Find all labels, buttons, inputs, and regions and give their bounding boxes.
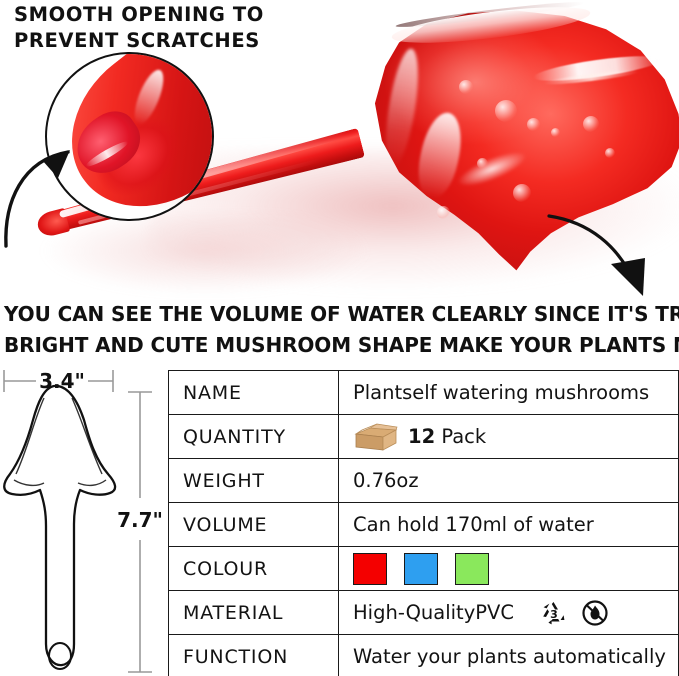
water-bubble (605, 148, 615, 158)
quantity-unit: Pack (435, 425, 486, 448)
material-text: High-QualityPVC (353, 601, 514, 624)
water-bubble (527, 118, 540, 131)
headline-line-1: SMOOTH OPENING TO (14, 2, 344, 28)
water-bubble (477, 158, 488, 169)
banner-line-1: YOU CAN SEE THE VOLUME OF WATER CLEARLY … (4, 302, 675, 326)
row-value-function: Water your plants automatically (339, 635, 679, 676)
table-row-function: FUNCTION Water your plants automatically (169, 635, 679, 676)
table-row-quantity: QUANTITY 12 Pack (169, 415, 679, 459)
recycle-pvc-icon: 3 (539, 599, 569, 627)
row-key-volume: VOLUME (169, 503, 339, 547)
water-bubble (459, 80, 473, 94)
height-dimension-label: 7.7" (117, 508, 163, 532)
row-key-colour: COLOUR (169, 547, 339, 591)
row-value-name: Plantself watering mushrooms (339, 371, 679, 415)
width-dimension-label: 3.4" (39, 369, 85, 393)
row-value-colour (339, 547, 679, 591)
headline-line-2: PREVENT SCRATCHES (14, 28, 344, 54)
row-value-weight: 0.76oz (339, 459, 679, 503)
water-bubble (583, 116, 599, 132)
water-bubble (513, 184, 531, 202)
row-value-volume: Can hold 170ml of water (339, 503, 679, 547)
table-row-volume: VOLUME Can hold 170ml of water (169, 503, 679, 547)
table-row-material: MATERIAL High-QualityPVC (169, 591, 679, 635)
water-bubble (437, 206, 450, 219)
dimension-drawing: 3.4" 7.7" (0, 362, 164, 676)
table-row-name: NAME Plantself watering mushrooms (169, 371, 679, 415)
package-box-icon (353, 422, 399, 452)
curved-arrow-right-icon (545, 212, 675, 300)
banner-line-2: BRIGHT AND CUTE MUSHROOM SHAPE MAKE YOUR… (4, 333, 675, 357)
colour-swatch-green (455, 553, 489, 585)
row-key-quantity: QUANTITY (169, 415, 339, 459)
row-value-quantity: 12 Pack (339, 415, 679, 459)
bottom-section: 3.4" 7.7" NAME Plantself watering mushro… (0, 362, 679, 676)
no-flame-icon (580, 599, 610, 627)
spec-table: NAME Plantself watering mushrooms QUANTI… (168, 370, 679, 676)
row-key-function: FUNCTION (169, 635, 339, 676)
product-photo: SMOOTH OPENING TO PREVENT SCRATCHES (0, 0, 679, 300)
recycle-code-number: 3 (550, 608, 558, 621)
row-key-name: NAME (169, 371, 339, 415)
curved-arrow-left-icon (2, 138, 88, 248)
water-bubble (551, 128, 560, 137)
table-row-weight: WEIGHT 0.76oz (169, 459, 679, 503)
product-infographic: SMOOTH OPENING TO PREVENT SCRATCHES YOU … (0, 0, 679, 676)
row-key-material: MATERIAL (169, 591, 339, 635)
water-bubble (495, 100, 517, 122)
row-value-material: High-QualityPVC 3 (339, 591, 679, 635)
row-key-weight: WEIGHT (169, 459, 339, 503)
table-row-colour: COLOUR (169, 547, 679, 591)
quantity-number: 12 (408, 425, 435, 448)
headline-text: SMOOTH OPENING TO PREVENT SCRATCHES (14, 2, 344, 54)
colour-swatch-red (353, 553, 387, 585)
colour-swatch-blue (404, 553, 438, 585)
